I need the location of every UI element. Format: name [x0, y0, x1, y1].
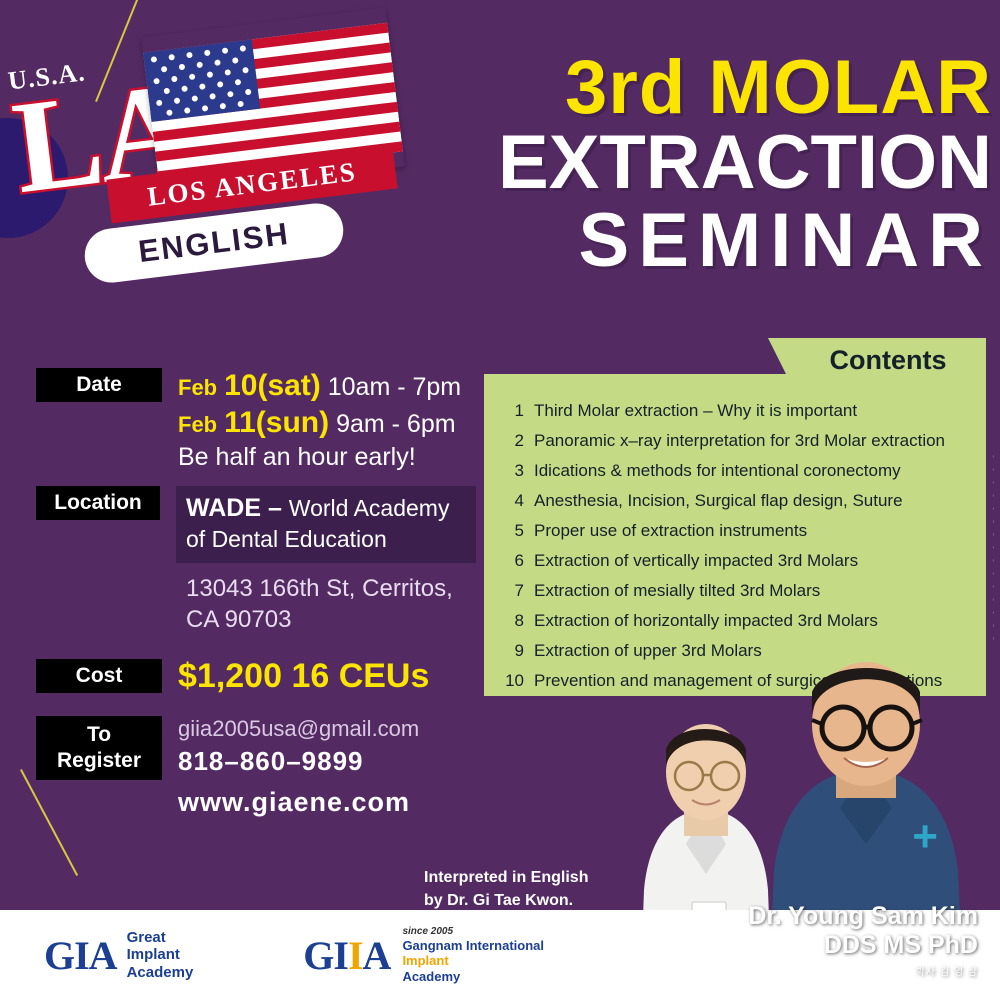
date-values: Feb 10(sat) 10am - 7pm Feb 11(sun) 9am -… — [178, 368, 461, 472]
register-values: giia2005usa@gmail.com 818–860–9899 www.g… — [178, 716, 419, 818]
giia-logo: GIIA since 2005 Gangnam International Im… — [303, 926, 544, 985]
list-item-number: 2 — [498, 432, 524, 449]
list-item-number: 4 — [498, 492, 524, 509]
english-badge-label: ENGLISH — [136, 216, 291, 270]
register-label: To Register — [36, 716, 162, 781]
list-item-number: 5 — [498, 522, 524, 539]
gia-logo-mark: GIA — [44, 932, 117, 979]
list-item-number: 6 — [498, 552, 524, 569]
title-line-1: 3rd MOLAR — [392, 52, 992, 124]
list-item: 1 Third Molar extraction – Why it is imp… — [498, 402, 974, 419]
giia-sub-line2: Implant — [402, 953, 544, 969]
venue-address: 13043 166th St, Cerritos, CA 90703 — [186, 573, 476, 635]
register-phone[interactable]: 818–860–9899 — [178, 746, 419, 777]
register-row: To Register giia2005usa@gmail.com 818–86… — [36, 716, 476, 818]
location-values: WADE – World Academy of Dental Education… — [160, 486, 476, 635]
list-item-text: Idications & methods for intentional cor… — [534, 462, 974, 479]
seminar-poster: LA U.S.A. LOS ANGELES ENGLISH 3rd MOLAR — [0, 0, 1000, 1000]
speaker-credentials: DDS MS PhD — [748, 931, 978, 960]
venue-name: WADE – World Academy — [186, 492, 466, 525]
date-label: Date — [36, 368, 162, 402]
list-item: 3 Idications & methods for intentional c… — [498, 462, 974, 479]
contents-heading: Contents — [830, 345, 947, 376]
gia-sub-line2: Implant — [127, 946, 194, 963]
list-item-number: 10 — [498, 672, 524, 689]
venue-address-line2: CA 90703 — [186, 604, 476, 635]
register-email[interactable]: giia2005usa@gmail.com — [178, 716, 419, 742]
date-note: Be half an hour early! — [178, 443, 461, 472]
list-item: 6 Extraction of vertically impacted 3rd … — [498, 552, 974, 569]
gia-logo: GIA Great Implant Academy — [44, 929, 193, 981]
giia-sub-line3: Academy — [402, 969, 544, 985]
date-row: Date Feb 10(sat) 10am - 7pm Feb 11(sun) … — [36, 368, 476, 472]
speaker-name-korean: 박사 김 영 삼 — [748, 963, 978, 978]
giia-logo-mark: GIIA — [303, 932, 390, 979]
list-item-text: Anesthesia, Incision, Surgical flap desi… — [534, 492, 974, 509]
register-label-line1: To — [36, 722, 162, 748]
giia-sub-line1: Gangnam International — [402, 938, 544, 954]
interpreter-note-line2: by Dr. Gi Tae Kwon. — [424, 889, 588, 912]
title-line-2: EXTRACTION — [392, 124, 992, 202]
date-1-day: 10(sat) — [224, 369, 321, 402]
list-item: 5 Proper use of extraction instruments — [498, 522, 974, 539]
venue-name-bold: WADE – — [186, 494, 289, 522]
list-item-text: Extraction of horizontally impacted 3rd … — [534, 612, 974, 629]
list-item: 7 Extraction of mesially tilted 3rd Mola… — [498, 582, 974, 599]
speaker-name-block: Dr. Young Sam Kim DDS MS PhD 박사 김 영 삼 — [748, 902, 978, 978]
cost-row: Cost $1,200 16 CEUs — [36, 657, 476, 696]
venue-address-line1: 13043 166th St, Cerritos, — [186, 573, 476, 604]
list-item-number: 3 — [498, 462, 524, 479]
location-label: Location — [36, 486, 160, 520]
register-website[interactable]: www.giaene.com — [178, 787, 419, 818]
list-item-number: 1 — [498, 402, 524, 419]
giia-mark-left: GI — [303, 933, 348, 978]
venue-name-line2: of Dental Education — [186, 525, 466, 555]
plus-icon: + — [912, 812, 938, 862]
cost-label: Cost — [36, 659, 162, 693]
location-row: Location WADE – World Academy of Dental … — [36, 486, 476, 635]
list-item-text: Proper use of extraction instruments — [534, 522, 974, 539]
date-1-month: Feb — [178, 375, 217, 400]
venue-box: WADE – World Academy of Dental Education — [176, 486, 476, 562]
interpreter-note-line1: Interpreted in English — [424, 866, 588, 889]
date-line-1: Feb 10(sat) 10am - 7pm — [178, 368, 461, 405]
giia-since: since 2005 — [402, 926, 544, 938]
giia-logo-subtitle: since 2005 Gangnam International Implant… — [402, 926, 544, 985]
list-item: 8 Extraction of horizontally impacted 3r… — [498, 612, 974, 629]
cost-value: $1,200 16 CEUs — [178, 657, 429, 696]
date-2-month: Feb — [178, 412, 217, 437]
list-item-text: Third Molar extraction – Why it is impor… — [534, 402, 974, 419]
tooth-icon: I — [348, 933, 363, 978]
list-item-number: 7 — [498, 582, 524, 599]
gia-logo-subtitle: Great Implant Academy — [127, 929, 194, 981]
gia-sub-line3: Academy — [127, 964, 194, 981]
register-label-line2: Register — [36, 748, 162, 774]
poster-title: 3rd MOLAR EXTRACTION SEMINAR — [392, 52, 992, 279]
list-item-number: 8 — [498, 612, 524, 629]
list-item-text: Extraction of vertically impacted 3rd Mo… — [534, 552, 974, 569]
list-item: 4 Anesthesia, Incision, Surgical flap de… — [498, 492, 974, 509]
title-line-3: SEMINAR — [392, 202, 992, 280]
event-info: Date Feb 10(sat) 10am - 7pm Feb 11(sun) … — [36, 368, 476, 824]
speaker-name: Dr. Young Sam Kim — [748, 902, 978, 931]
date-1-time: 10am - 7pm — [328, 373, 461, 401]
date-2-time: 9am - 6pm — [336, 410, 455, 438]
list-item-number: 9 — [498, 642, 524, 659]
interpreter-note: Interpreted in English by Dr. Gi Tae Kwo… — [424, 866, 588, 912]
list-item: 2 Panoramic x–ray interpretation for 3rd… — [498, 432, 974, 449]
date-line-2: Feb 11(sun) 9am - 6pm — [178, 405, 461, 442]
date-2-day: 11(sun) — [224, 406, 329, 439]
list-item-text: Panoramic x–ray interpretation for 3rd M… — [534, 432, 974, 449]
venue-name-rest: World Academy — [289, 495, 450, 521]
gia-sub-line1: Great — [127, 929, 194, 946]
list-item-text: Extraction of mesially tilted 3rd Molars — [534, 582, 974, 599]
giia-mark-right: A — [363, 933, 391, 978]
